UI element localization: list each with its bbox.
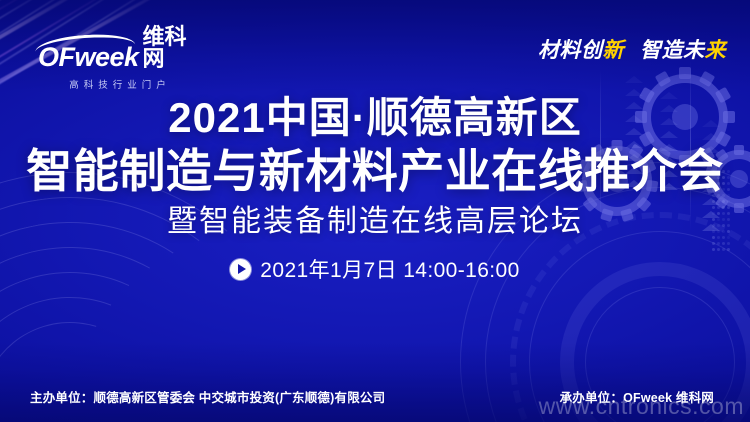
ofweek-logo[interactable]: OFweek 维科网 高科技行业门户 xyxy=(38,26,198,91)
title-line-3: 暨智能装备制造在线高层论坛 xyxy=(0,205,750,238)
title-line-1: 2021中国·顺德高新区 xyxy=(0,96,750,141)
slogan-phrase-1: 材料创新 xyxy=(538,34,624,64)
event-datetime-text: 2021年1月7日 14:00-16:00 xyxy=(260,254,519,284)
header-slogan: 材料创新 智造未来 xyxy=(538,34,726,64)
slogan-2-yellow: 来 xyxy=(705,34,727,64)
event-datetime: 2021年1月7日 14:00-16:00 xyxy=(0,254,750,284)
slogan-1-yellow: 新 xyxy=(603,34,625,64)
organizer-text: 主办单位：顺德高新区管委会 中交城市投资(广东顺德)有限公司 xyxy=(30,387,385,406)
event-poster: OFweek 维科网 高科技行业门户 材料创新 智造未来 2021中国·顺德高新… xyxy=(0,0,750,422)
slogan-phrase-2: 智造未来 xyxy=(640,34,726,64)
site-watermark: www.cntronics.com xyxy=(539,393,744,420)
play-circle-icon[interactable] xyxy=(230,259,251,280)
logo-text-cn: 维科网 xyxy=(143,26,198,70)
poster-header: OFweek 维科网 高科技行业门户 材料创新 智造未来 xyxy=(0,0,750,92)
title-line-2: 智能制造与新材料产业在线推介会 xyxy=(0,147,750,196)
slogan-2-white: 智造未 xyxy=(640,34,705,64)
poster-title-block: 2021中国·顺德高新区 智能制造与新材料产业在线推介会 暨智能装备制造在线高层… xyxy=(0,96,750,284)
slogan-1-white: 材料创 xyxy=(538,34,603,64)
logo-tagline: 高科技行业门户 xyxy=(38,77,198,91)
logo-text-en: OFweek xyxy=(38,44,139,71)
